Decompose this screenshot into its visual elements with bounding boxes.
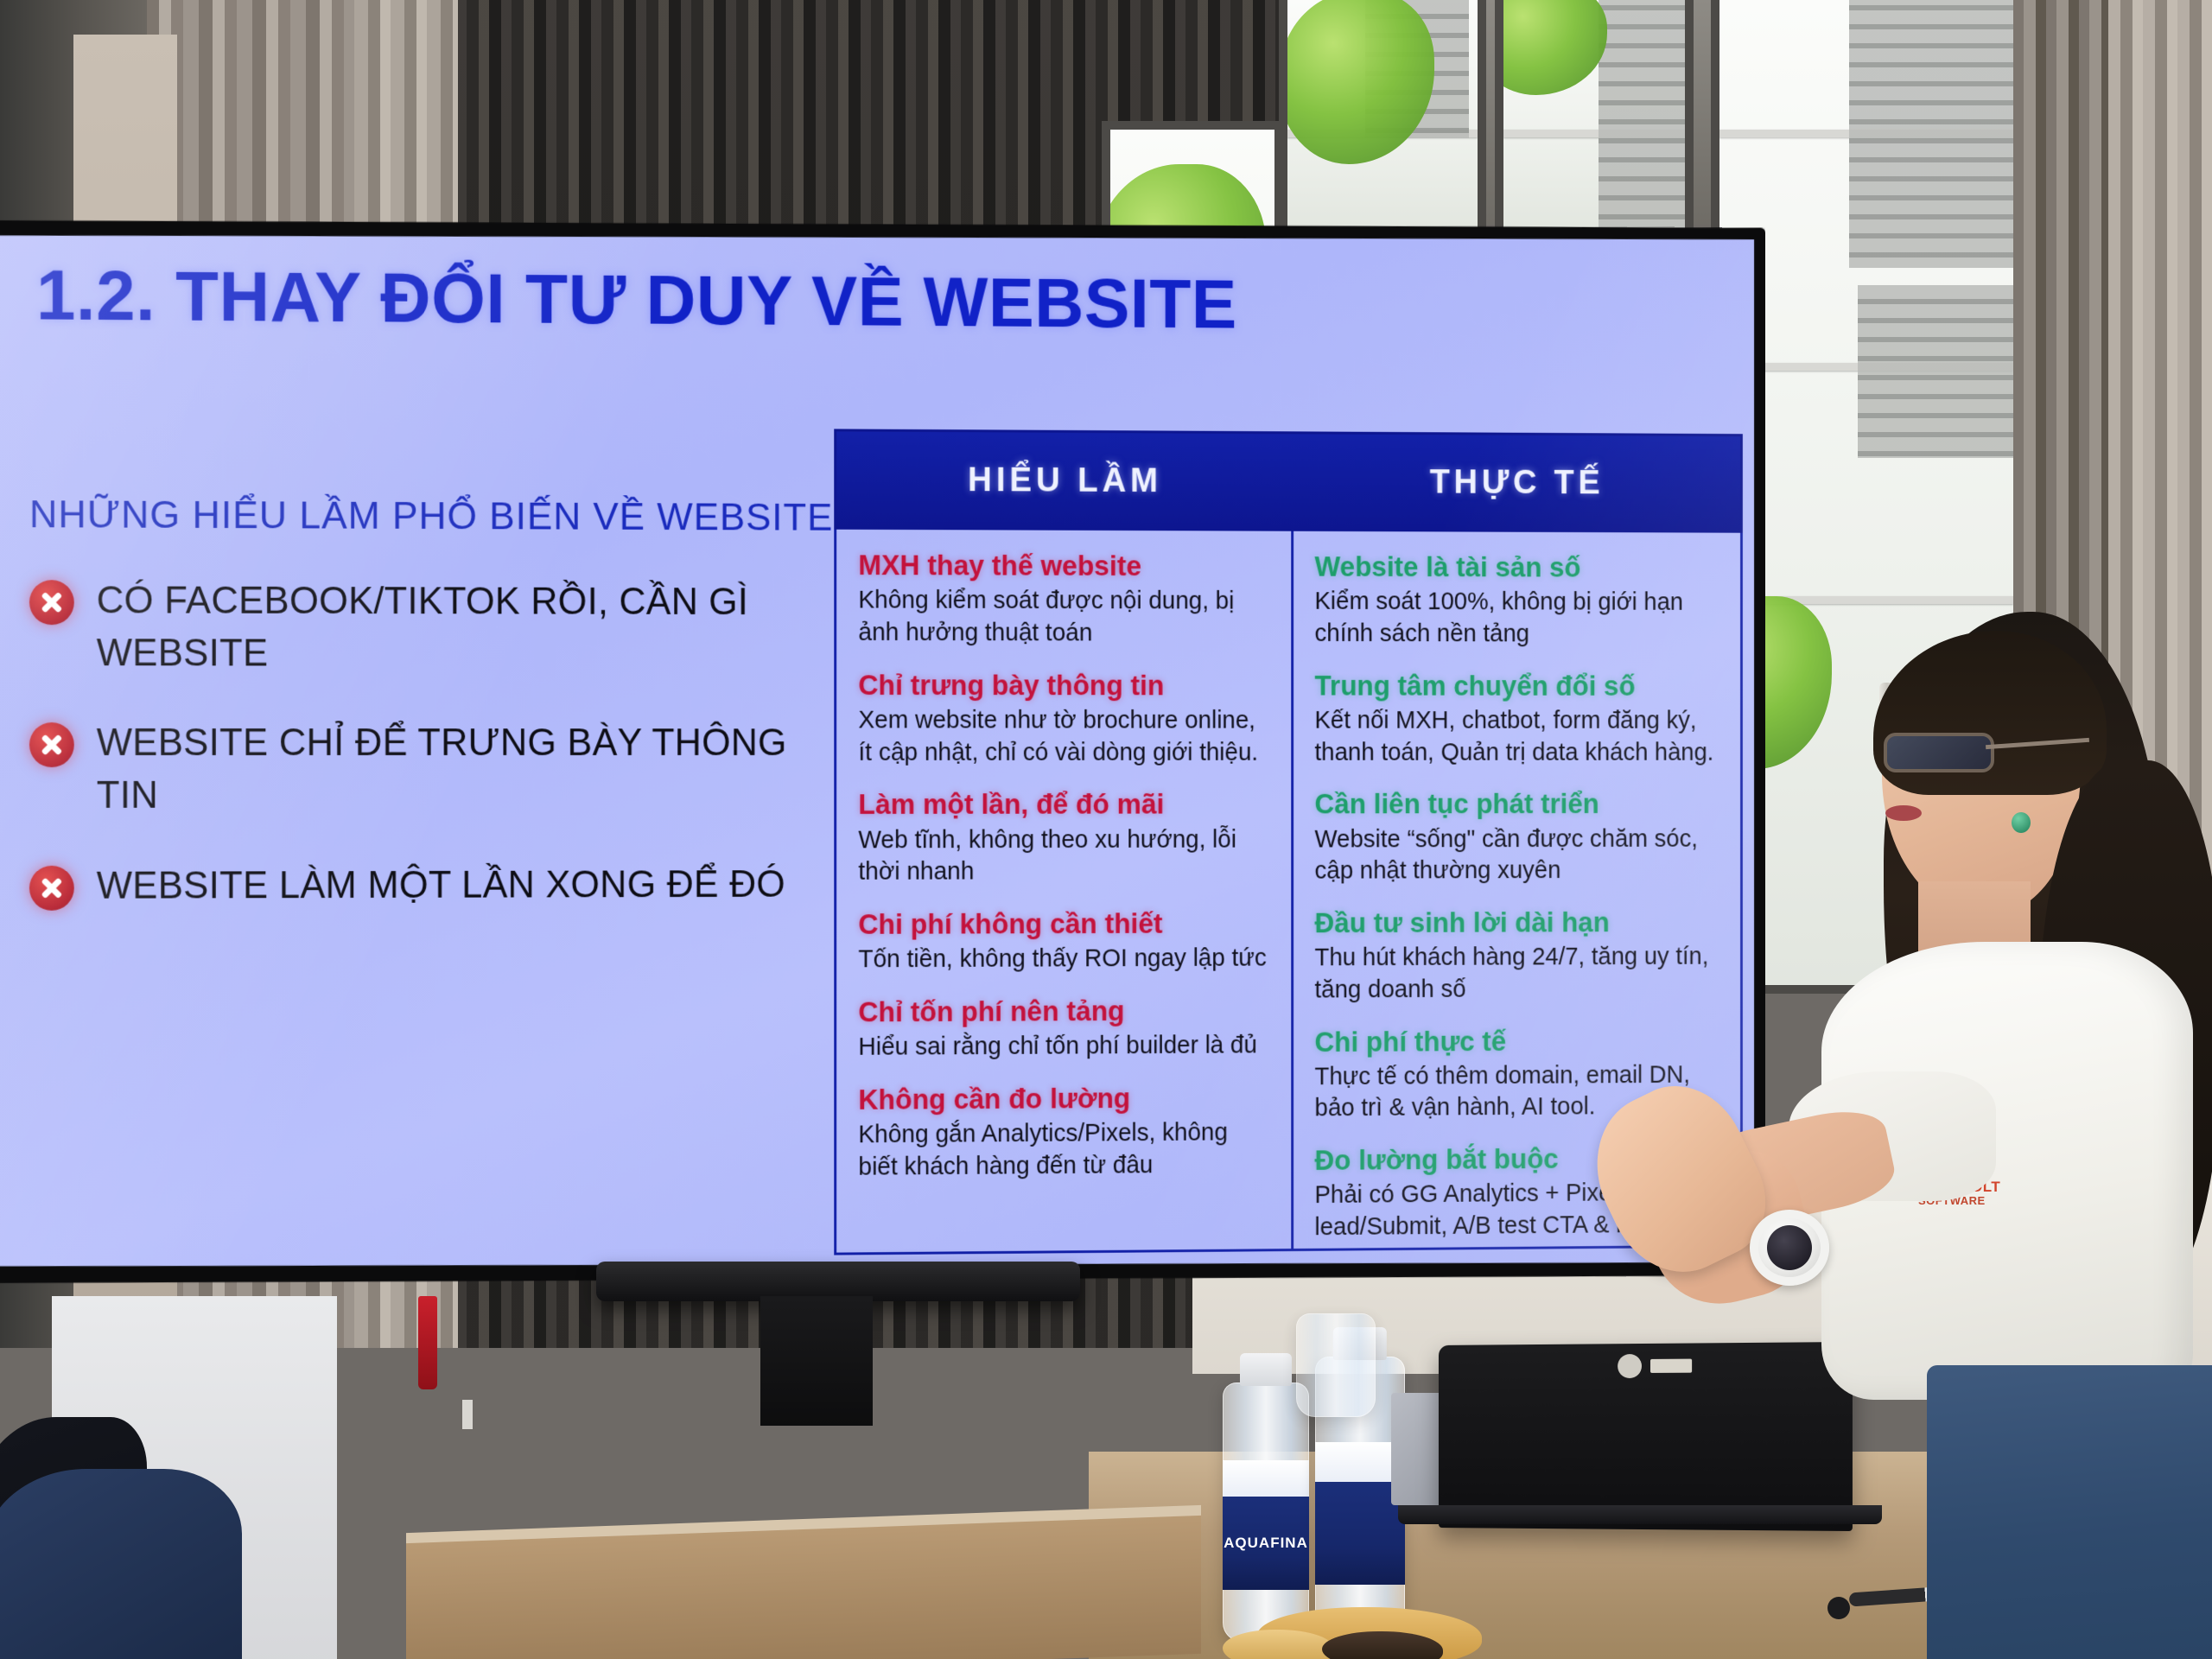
table-row: Chỉ tốn phí nên tảng Hiểu sai rằng chỉ t… [858, 994, 1268, 1065]
bottle-cap [1240, 1353, 1292, 1386]
window-top-left [1279, 0, 1486, 242]
earring [2012, 812, 2031, 833]
row-description: Kết nối MXH, chatbot, form đăng ký, than… [1314, 705, 1719, 769]
bottle-brand-text: AQUAFINA [1224, 1535, 1308, 1552]
row-title: Chi phí không cần thiết [858, 906, 1268, 942]
row-title: Không cần đo lường [858, 1080, 1268, 1116]
bullet-label: WEBSITE LÀM MỘT LẦN XONG ĐỂ ĐÓ [97, 859, 785, 912]
list-item: WEBSITE CHỈ ĐỂ TRƯNG BÀY THÔNG TIN [29, 717, 821, 822]
column-header-misconception: HIỂU LẦM [836, 431, 1292, 528]
table-row: Làm một lần, để đó mãi Web tĩnh, không t… [858, 787, 1268, 888]
slide-left-column: NHỮNG HIỂU LẦM PHỔ BIẾN VỀ WEBSITE CÓ FA… [29, 492, 821, 912]
table-row: MXH thay thế website Không kiểm soát đượ… [858, 549, 1268, 651]
office-chair [0, 1469, 242, 1659]
bottle-label: AQUAFINA [1223, 1497, 1309, 1590]
table-row: Trung tâm chuyển đổi số Kết nối MXH, cha… [1314, 669, 1719, 769]
list-item: WEBSITE LÀM MỘT LẦN XONG ĐỂ ĐÓ [29, 859, 821, 912]
presenter: BLUEBOLT SOFTWARE [1780, 605, 2212, 1659]
red-marker [418, 1296, 437, 1389]
row-description: Không gắn Analytics/Pixels, không biết k… [858, 1117, 1268, 1184]
water-bottle: AQUAFINA [1223, 1382, 1309, 1642]
presentation-slide: 1.2. THAY ĐỔI TƯ DUY VỀ WEBSITE NHỮNG HI… [0, 224, 1754, 1278]
misconception-column: MXH thay thế website Không kiểm soát đượ… [836, 530, 1291, 1253]
row-title: Trung tâm chuyển đổi số [1314, 669, 1719, 703]
cross-circle-icon [29, 866, 74, 911]
left-column-heading: NHỮNG HIỂU LẦM PHỔ BIẾN VỀ WEBSITE [29, 492, 821, 539]
tv-stand-column [760, 1296, 873, 1426]
table-row: Cần liên tục phát triển Website “sống" c… [1314, 787, 1719, 887]
tv-screen: 1.2. THAY ĐỔI TƯ DUY VỀ WEBSITE NHỮNG HI… [0, 224, 1754, 1278]
bullet-label: WEBSITE CHỈ ĐỂ TRƯNG BÀY THÔNG TIN [97, 718, 821, 823]
row-title: Đầu tư sinh lời dài hạn [1314, 906, 1719, 941]
presentation-photo-scene: 1.2. THAY ĐỔI TƯ DUY VỀ WEBSITE NHỮNG HI… [0, 0, 2212, 1659]
smartwatch [1750, 1210, 1829, 1286]
laptop-sticker [1650, 1359, 1692, 1373]
window-top-right [1495, 0, 1694, 242]
cross-circle-icon [29, 580, 74, 625]
row-description: Xem website như tờ brochure online, ít c… [858, 705, 1268, 769]
row-title: Chỉ tốn phí nên tảng [858, 994, 1268, 1030]
row-description: Thu hút khách hàng 24/7, tăng uy tín, tă… [1314, 942, 1719, 1007]
lips [1885, 805, 1922, 821]
column-header-reality: THỰC TẾ [1292, 434, 1740, 531]
table-row: Chỉ trưng bày thông tin Xem website như … [858, 668, 1268, 769]
row-description: Website “sống" cần được chăm sóc, cập nh… [1314, 823, 1719, 887]
row-title: Làm một lần, để đó mãi [858, 787, 1268, 822]
table-row: Website là tài sản số Kiểm soát 100%, kh… [1314, 550, 1719, 651]
laptop-badge-icon [1618, 1354, 1642, 1378]
row-title: Cần liên tục phát triển [1314, 787, 1719, 822]
building-exterior [1599, 0, 1694, 242]
table-row: Không cần đo lường Không gắn Analytics/P… [858, 1080, 1268, 1184]
row-title: Website là tài sản số [1314, 550, 1719, 585]
water-bottle [1296, 1313, 1376, 1417]
table-row: Chi phí không cần thiết Tốn tiền, không … [858, 906, 1268, 976]
row-description: Không kiểm soát được nội dung, bị ảnh hư… [858, 585, 1268, 650]
list-item: CÓ FACEBOOK/TIKTOK RỒI, CẦN GÌ WEBSITE [29, 575, 821, 680]
row-title: Chỉ trưng bày thông tin [858, 668, 1268, 702]
cross-circle-icon [29, 722, 74, 767]
row-title: MXH thay thế website [858, 549, 1268, 584]
wall-hook [462, 1400, 473, 1429]
row-description: Web tĩnh, không theo xu hướng, lỗi thời … [858, 824, 1268, 889]
slide-title: 1.2. THAY ĐỔI TƯ DUY VỀ WEBSITE [36, 255, 1237, 345]
denim-skirt [1927, 1365, 2212, 1659]
building-exterior [1858, 285, 2013, 458]
table-header-row: HIỂU LẦM THỰC TẾ [834, 429, 1743, 532]
bottle-body [1296, 1313, 1376, 1417]
television-display: 1.2. THAY ĐỔI TƯ DUY VỀ WEBSITE NHỮNG HI… [0, 212, 1765, 1292]
row-title: Chi phí thực tế [1314, 1023, 1719, 1059]
bottle-label-upper [1223, 1460, 1309, 1502]
misconception-bullet-list: CÓ FACEBOOK/TIKTOK RỒI, CẦN GÌ WEBSITE W… [29, 575, 821, 912]
bullet-label: CÓ FACEBOOK/TIKTOK RỒI, CẦN GÌ WEBSITE [97, 575, 821, 680]
table-row: Đầu tư sinh lời dài hạn Thu hút khách hà… [1314, 906, 1719, 1007]
building-exterior [1849, 0, 2022, 268]
row-description: Hiểu sai rằng chỉ tốn phí builder là đủ [858, 1030, 1268, 1064]
eyeglasses [1884, 733, 1994, 772]
row-description: Kiểm soát 100%, không bị giới hạn chính … [1314, 587, 1719, 652]
row-description: Tốn tiền, không thấy ROI ngay lập tức [858, 943, 1268, 976]
